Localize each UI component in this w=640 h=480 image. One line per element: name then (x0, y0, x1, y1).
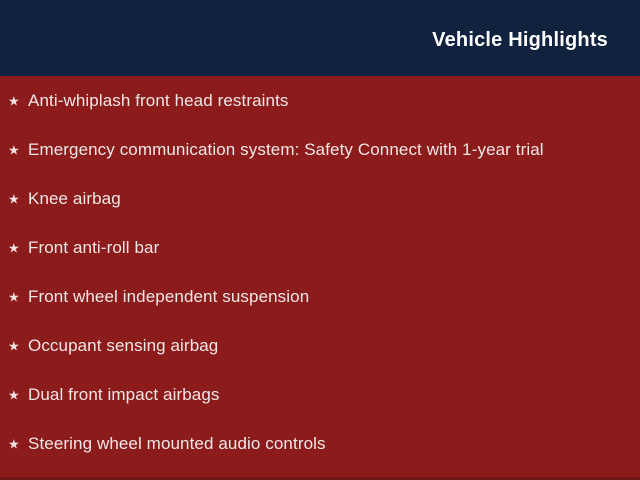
vehicle-highlights-slide: Vehicle Highlights ★ Anti-whiplash front… (0, 0, 640, 480)
page-title: Vehicle Highlights (432, 29, 608, 51)
star-bullet-icon: ★ (8, 339, 24, 352)
list-item: ★ Dual front impact airbags (0, 370, 640, 419)
slide-header: Vehicle Highlights (0, 0, 640, 76)
highlights-body: ★ Anti-whiplash front head restraints ★ … (0, 76, 640, 480)
list-item-label: Occupant sensing airbag (28, 336, 218, 356)
list-item: ★ Front wheel independent suspension (0, 272, 640, 321)
list-item-label: Steering wheel mounted audio controls (28, 434, 326, 454)
list-item-label: Front wheel independent suspension (28, 287, 309, 307)
list-item: ★ Anti-whiplash front head restraints (0, 76, 640, 125)
list-item: ★ Front anti-roll bar (0, 223, 640, 272)
highlights-list: ★ Anti-whiplash front head restraints ★ … (0, 76, 640, 468)
list-item-label: Knee airbag (28, 189, 121, 209)
star-bullet-icon: ★ (8, 388, 24, 401)
star-bullet-icon: ★ (8, 94, 24, 107)
star-bullet-icon: ★ (8, 143, 24, 156)
list-item: ★ Steering wheel mounted audio controls (0, 419, 640, 468)
list-item-label: Anti-whiplash front head restraints (28, 91, 289, 111)
star-bullet-icon: ★ (8, 241, 24, 254)
list-item: ★ Occupant sensing airbag (0, 321, 640, 370)
list-item: ★ Knee airbag (0, 174, 640, 223)
list-item-label: Front anti-roll bar (28, 238, 159, 258)
list-item-label: Dual front impact airbags (28, 385, 219, 405)
list-item: ★ Emergency communication system: Safety… (0, 125, 640, 174)
star-bullet-icon: ★ (8, 437, 24, 450)
list-item-label: Emergency communication system: Safety C… (28, 140, 544, 160)
star-bullet-icon: ★ (8, 290, 24, 303)
star-bullet-icon: ★ (8, 192, 24, 205)
